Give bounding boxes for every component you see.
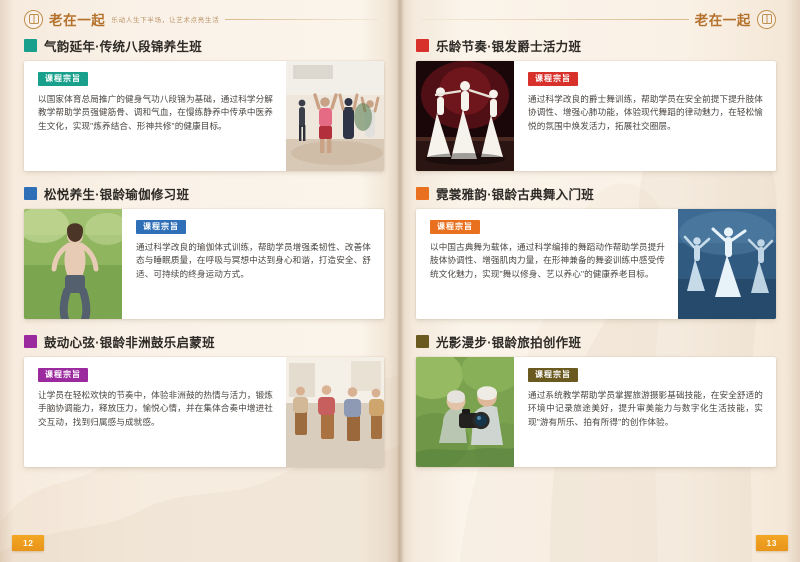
- course-photo-photography: [416, 357, 514, 467]
- page-header-left: 老在一起 乐动人生下半场，让艺术点亮生活: [24, 9, 378, 29]
- card-text: 课程宗旨 通过系统教学帮助学员掌握旅游摄影基础技能，在安全舒适的环境中记录旅途美…: [514, 357, 776, 467]
- card-body: 课程宗旨 通过系统教学帮助学员掌握旅游摄影基础技能，在安全舒适的环境中记录旅途美…: [416, 357, 776, 467]
- aim-badge: 课程宗旨: [528, 72, 578, 86]
- header-divider: [422, 19, 689, 20]
- aim-badge: 课程宗旨: [528, 368, 578, 382]
- card-text: 课程宗旨 通过科学改良的瑜伽体式训练，帮助学员增强柔韧性、改善体态与睡眠质量，在…: [122, 209, 384, 319]
- seal-logo-icon: [24, 10, 43, 29]
- aim-text: 让学员在轻松欢快的节奏中，体验非洲鼓的热情与活力，锻炼手脑协调能力，释放压力，愉…: [38, 389, 273, 431]
- course-card-qiyun-baduanjin[interactable]: 气韵延年·传统八段锦养生班: [24, 36, 384, 171]
- aim-badge: 课程宗旨: [430, 220, 480, 234]
- course-card-gudong-drums[interactable]: 鼓动心弦·银龄非洲鼓乐启蒙班: [24, 332, 384, 467]
- course-card-nishang-classical[interactable]: 霓裳雅韵·银龄古典舞入门班: [416, 184, 776, 319]
- course-photo-drums: [286, 357, 384, 467]
- card-title-row: 松悦养生·银龄瑜伽修习班: [24, 184, 384, 203]
- page-number-right: 13: [756, 535, 788, 552]
- card-body: 课程宗旨 以国家体育总局推广的健身气功八段锦为基础，通过科学分解教学帮助学员强健…: [24, 61, 384, 171]
- course-photo-jazz: [416, 61, 514, 171]
- card-text: 课程宗旨 通过科学改良的爵士舞训练，帮助学员在安全前提下提升肢体协调性、增强心肺…: [514, 61, 776, 171]
- course-card-list-left: 气韵延年·传统八段锦养生班: [24, 36, 384, 528]
- aim-badge: 课程宗旨: [38, 368, 88, 382]
- card-body: 课程宗旨 通过科学改良的瑜伽体式训练，帮助学员增强柔韧性、改善体态与睡眠质量，在…: [24, 209, 384, 319]
- card-body: 课程宗旨 通过科学改良的爵士舞训练，帮助学员在安全前提下提升肢体协调性、增强心肺…: [416, 61, 776, 171]
- card-title-row: 乐龄节奏·银发爵士活力班: [416, 36, 776, 55]
- course-title: 乐龄节奏·银发爵士活力班: [436, 36, 581, 55]
- card-text: 课程宗旨 以中国古典舞为载体，通过科学编排的舞蹈动作帮助学员提升肢体协调性、增强…: [416, 209, 678, 319]
- aim-text: 以中国古典舞为载体，通过科学编排的舞蹈动作帮助学员提升肢体协调性、增强肌肉力量，…: [430, 241, 665, 283]
- accent-swatch-icon: [24, 187, 37, 200]
- course-title: 气韵延年·传统八段锦养生班: [44, 36, 202, 55]
- aim-badge: 课程宗旨: [38, 72, 88, 86]
- aim-badge: 课程宗旨: [136, 220, 186, 234]
- accent-swatch-icon: [416, 39, 429, 52]
- card-title-row: 光影漫步·银龄旅拍创作班: [416, 332, 776, 351]
- page-edge-shade: [0, 0, 14, 562]
- accent-swatch-icon: [416, 335, 429, 348]
- brand-tagline: 乐动人生下半场，让艺术点亮生活: [111, 14, 219, 25]
- page-edge-shade: [786, 0, 800, 562]
- course-title: 松悦养生·银龄瑜伽修习班: [44, 184, 189, 203]
- card-body: 课程宗旨 以中国古典舞为载体，通过科学编排的舞蹈动作帮助学员提升肢体协调性、增强…: [416, 209, 776, 319]
- aim-text: 通过系统教学帮助学员掌握旅游摄影基础技能，在安全舒适的环境中记录旅途美好，提升审…: [528, 389, 763, 431]
- page-number-left: 12: [12, 535, 44, 552]
- course-card-leling-jazz[interactable]: 乐龄节奏·银发爵士活力班: [416, 36, 776, 171]
- page-left: 老在一起 乐动人生下半场，让艺术点亮生活 气韵延年·传统八段锦养生班: [0, 0, 400, 562]
- card-title-row: 霓裳雅韵·银龄古典舞入门班: [416, 184, 776, 203]
- brand-name: 老在一起: [49, 9, 105, 29]
- card-title-row: 气韵延年·传统八段锦养生班: [24, 36, 384, 55]
- aim-text: 通过科学改良的瑜伽体式训练，帮助学员增强柔韧性、改善体态与睡眠质量，在呼吸与冥想…: [136, 241, 371, 283]
- aim-text: 以国家体育总局推广的健身气功八段锦为基础，通过科学分解教学帮助学员强健筋骨、调和…: [38, 93, 273, 135]
- course-card-songyue-yoga[interactable]: 松悦养生·银龄瑜伽修习班: [24, 184, 384, 319]
- accent-swatch-icon: [24, 335, 37, 348]
- seal-logo-icon: [757, 10, 776, 29]
- card-text: 课程宗旨 以国家体育总局推广的健身气功八段锦为基础，通过科学分解教学帮助学员强健…: [24, 61, 286, 171]
- course-photo-classical: [678, 209, 776, 319]
- aim-text: 通过科学改良的爵士舞训练，帮助学员在安全前提下提升肢体协调性、增强心肺功能，体验…: [528, 93, 763, 135]
- page-right: 老在一起 乐龄节奏·银发爵士活力班: [400, 0, 800, 562]
- header-divider: [225, 19, 378, 20]
- course-card-list-right: 乐龄节奏·银发爵士活力班: [416, 36, 776, 528]
- course-title: 霓裳雅韵·银龄古典舞入门班: [436, 184, 594, 203]
- brand-name: 老在一起: [695, 9, 751, 29]
- page-header-right: 老在一起: [422, 9, 776, 29]
- course-photo-yoga: [24, 209, 122, 319]
- course-card-guangying-photo[interactable]: 光影漫步·银龄旅拍创作班: [416, 332, 776, 467]
- course-title: 光影漫步·银龄旅拍创作班: [436, 332, 581, 351]
- card-text: 课程宗旨 让学员在轻松欢快的节奏中，体验非洲鼓的热情与活力，锻炼手脑协调能力，释…: [24, 357, 286, 467]
- accent-swatch-icon: [24, 39, 37, 52]
- accent-swatch-icon: [416, 187, 429, 200]
- course-photo-baduanjin: [286, 61, 384, 171]
- card-body: 课程宗旨 让学员在轻松欢快的节奏中，体验非洲鼓的热情与活力，锻炼手脑协调能力，释…: [24, 357, 384, 467]
- course-title: 鼓动心弦·银龄非洲鼓乐启蒙班: [44, 332, 215, 351]
- brochure-spread: 老在一起 乐动人生下半场，让艺术点亮生活 气韵延年·传统八段锦养生班: [0, 0, 800, 562]
- card-title-row: 鼓动心弦·银龄非洲鼓乐启蒙班: [24, 332, 384, 351]
